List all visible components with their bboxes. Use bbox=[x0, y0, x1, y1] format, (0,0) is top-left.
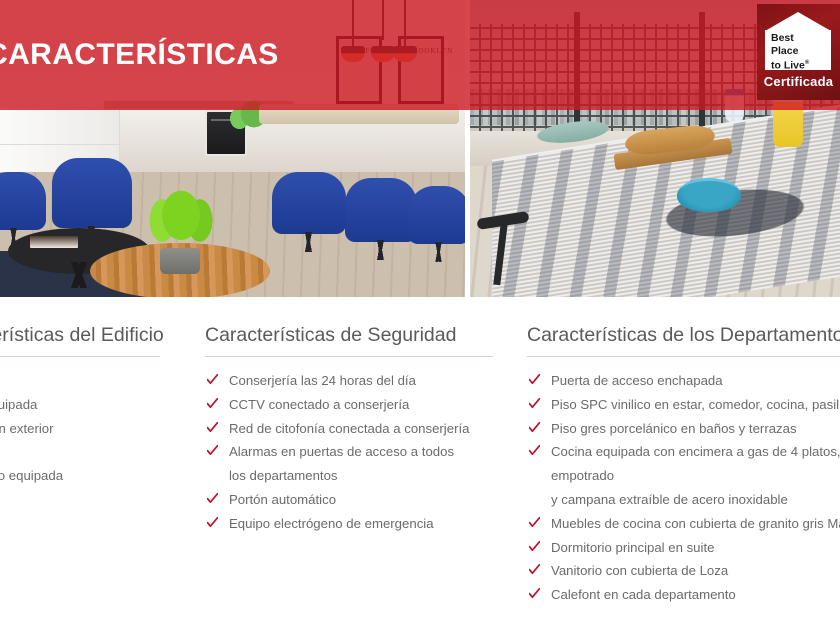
list-item-label: Equipo electrógeno de emergencia bbox=[229, 516, 434, 531]
column-building-divider bbox=[0, 356, 160, 357]
house-icon: Best Place to Live® bbox=[765, 12, 831, 70]
list-item: so bbox=[0, 369, 160, 393]
list-item-label: Puerta de acceso enchapada bbox=[551, 373, 723, 388]
list-item: Vanitorio con cubierta de Loza bbox=[527, 559, 840, 583]
column-building-features: Características del Edificio so múltiple… bbox=[0, 322, 160, 536]
list-item: múltiple equipada bbox=[0, 393, 160, 417]
building-feature-list: so múltiple equipada quipados en exterio… bbox=[0, 369, 160, 536]
coffee-table-book bbox=[30, 236, 78, 248]
blue-dining-chair bbox=[272, 172, 346, 234]
blue-dining-chair bbox=[408, 186, 465, 244]
list-item-label: empotrado bbox=[551, 468, 614, 483]
list-item-label: Vanitorio con cubierta de Loza bbox=[551, 563, 728, 578]
list-item: CCTV conectado a conserjería bbox=[205, 393, 505, 417]
column-security-divider bbox=[205, 356, 493, 357]
fence-post bbox=[699, 12, 705, 143]
list-item: Piso gres porcelánico en baños y terraza… bbox=[527, 417, 840, 441]
list-item: s bbox=[0, 512, 160, 536]
check-icon bbox=[529, 517, 540, 528]
list-item: Equipo electrógeno de emergencia bbox=[205, 512, 505, 536]
list-item: Red de citofonía conectada a conserjería bbox=[205, 417, 505, 441]
list-item-label: Conserjería las 24 horas del día bbox=[229, 373, 416, 388]
column-unit-features: Características de los Departamentos Pue… bbox=[527, 322, 840, 607]
drinking-glass bbox=[725, 89, 744, 123]
best-place-to-live-badge: Best Place to Live® Certificada bbox=[757, 4, 840, 100]
list-item: Calefont en cada departamento bbox=[527, 583, 840, 607]
list-item: do y secado equipada bbox=[0, 464, 160, 488]
badge-line-1: Best bbox=[771, 32, 809, 45]
list-item-continuation: los departamentos bbox=[205, 464, 505, 488]
list-item-continuation: empotrado bbox=[527, 464, 840, 488]
check-icon bbox=[529, 374, 540, 385]
list-item: tiles bbox=[0, 488, 160, 512]
blue-dining-chair bbox=[345, 178, 417, 242]
list-item-label: y campana extraíble de acero inoxidable bbox=[551, 492, 788, 507]
pendant-lamp bbox=[352, 0, 354, 56]
list-item: Portón automático bbox=[205, 488, 505, 512]
hero-image-band: CARACTERÍSTICAS bbox=[0, 0, 840, 297]
folding-chair bbox=[477, 215, 533, 285]
list-item-label: CCTV conectado a conserjería bbox=[229, 397, 409, 412]
list-item: Dormitorio principal en suite bbox=[527, 536, 840, 560]
list-item-label: Portón automático bbox=[229, 492, 336, 507]
check-icon bbox=[529, 541, 540, 552]
check-icon bbox=[207, 374, 218, 385]
list-item-label: Red de citofonía conectada a conserjería bbox=[229, 421, 469, 436]
list-item: Alarmas en puertas de acceso a todos bbox=[205, 440, 505, 464]
check-icon bbox=[207, 517, 218, 528]
check-icon bbox=[529, 445, 540, 456]
column-security-heading: Características de Seguridad bbox=[205, 322, 505, 356]
check-icon bbox=[529, 588, 540, 599]
badge-line-3-text: to Live bbox=[771, 60, 805, 72]
column-unit-heading: Características de los Departamentos bbox=[527, 322, 840, 356]
column-security-features: Características de Seguridad Conserjería… bbox=[205, 322, 505, 536]
list-item: Piso SPC vinilico en estar, comedor, coc… bbox=[527, 393, 840, 417]
pendant-lamp bbox=[382, 0, 384, 40]
column-building-heading: Características del Edificio bbox=[0, 322, 160, 356]
list-item: Muebles de cocina con cubierta de granit… bbox=[527, 512, 840, 536]
badge-line-3: to Live® bbox=[771, 57, 809, 72]
list-item: quipados en exterior bbox=[0, 417, 160, 441]
house-roof-shape bbox=[765, 12, 831, 31]
registered-mark: ® bbox=[805, 60, 809, 66]
column-unit-divider bbox=[527, 356, 840, 357]
security-feature-list: Conserjería las 24 horas del día CCTV co… bbox=[205, 369, 505, 536]
list-item-label: Piso gres porcelánico en baños y terraza… bbox=[551, 421, 797, 436]
check-icon bbox=[207, 445, 218, 456]
check-icon bbox=[529, 564, 540, 575]
check-icon bbox=[207, 398, 218, 409]
dining-table bbox=[259, 104, 459, 124]
plant-pot bbox=[160, 248, 200, 274]
list-item-label: Calefont en cada departamento bbox=[551, 587, 736, 602]
blue-bowl bbox=[677, 178, 741, 212]
list-item: Cocina equipada con encimera a gas de 4 … bbox=[527, 440, 840, 464]
list-item: Puerta de acceso enchapada bbox=[527, 369, 840, 393]
blue-armchair bbox=[0, 172, 46, 230]
list-item-label: Muebles de cocina con cubierta de granit… bbox=[551, 516, 840, 531]
list-item: Conserjería las 24 horas del día bbox=[205, 369, 505, 393]
badge-certified-label: Certificada bbox=[757, 74, 840, 89]
check-icon bbox=[207, 422, 218, 433]
fern-plant bbox=[142, 182, 220, 256]
check-icon bbox=[529, 422, 540, 433]
list-item-continuation: y campana extraíble de acero inoxidable bbox=[527, 488, 840, 512]
features-page: CARACTERÍSTICAS Best Place to Live® Cert… bbox=[0, 0, 840, 630]
list-item: uipado bbox=[0, 440, 160, 464]
page-title: CARACTERÍSTICAS bbox=[0, 38, 279, 72]
blue-armchair bbox=[52, 158, 132, 228]
list-item-label: Dormitorio principal en suite bbox=[551, 540, 714, 555]
list-item-label: los departamentos bbox=[229, 468, 338, 483]
check-icon bbox=[207, 493, 218, 504]
badge-wordmark: Best Place to Live® bbox=[771, 32, 809, 72]
pendant-lamp bbox=[404, 0, 406, 62]
list-item-label: Alarmas en puertas de acceso a todos bbox=[229, 444, 454, 459]
unit-feature-list: Puerta de acceso enchapada Piso SPC vini… bbox=[527, 369, 840, 607]
check-icon bbox=[529, 398, 540, 409]
badge-line-2: Place bbox=[771, 45, 809, 58]
list-item-label: Piso SPC vinilico en estar, comedor, coc… bbox=[551, 397, 840, 412]
list-item-label: Cocina equipada con encimera a gas de 4 … bbox=[551, 444, 840, 459]
